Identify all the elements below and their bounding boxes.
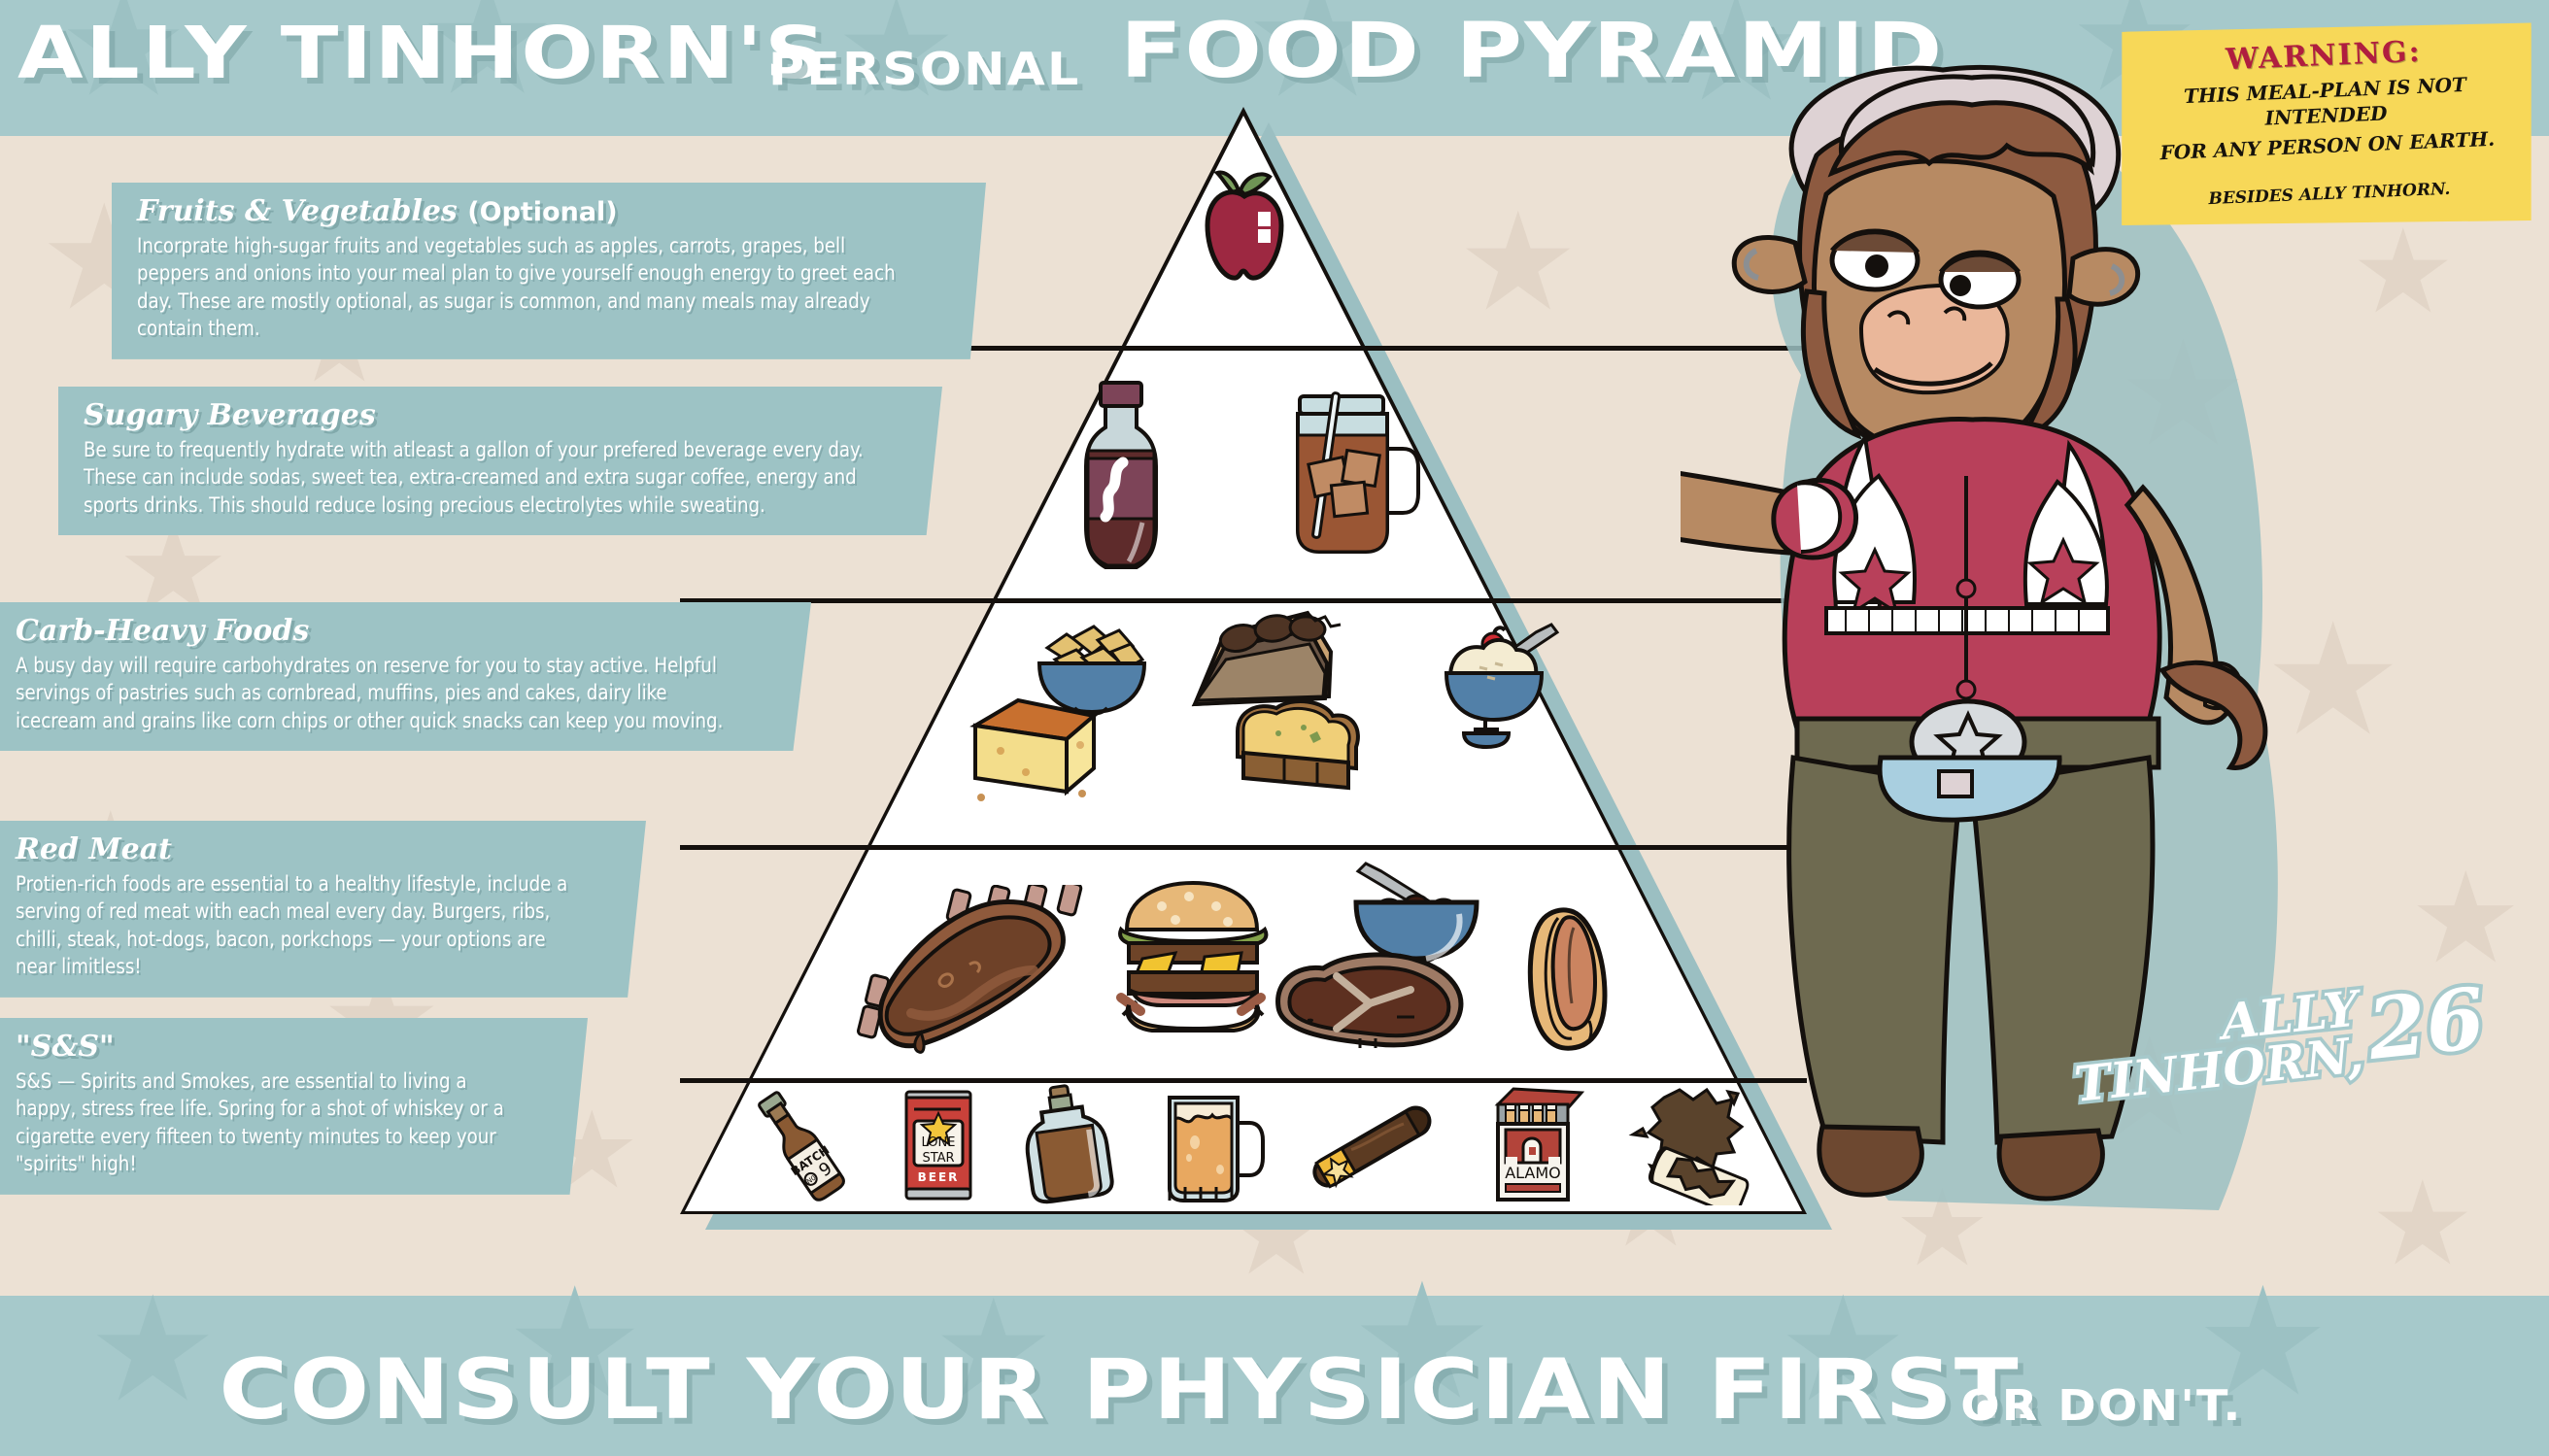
section-body: S&S — Spirits and Smokes, are essential … [16,1068,529,1179]
section-ribbon-carb-heavy-foods: Carb-Heavy Foods A busy day will require… [0,602,811,751]
title-part-owner: ALLY TINHORN'S [17,12,828,95]
warning-line-3: BESIDES ALLY TINHORN. [2142,177,2517,212]
double-cheeseburger-icon [1107,875,1277,1040]
pupil-right [1950,275,1971,296]
section-body: Protien-rich foods are essential to a he… [16,871,585,982]
buttered-toast-icon [1224,696,1379,803]
ice-cream-sundae-icon [1423,617,1569,758]
jeans-zipper [1939,771,1972,796]
cornbread-slice-icon [958,683,1108,809]
section-heading: Carb-Heavy Foods [16,616,786,647]
beer-brand-line1-label: LONE [922,1135,956,1150]
section-heading-text: Carb-Heavy Foods [16,614,309,648]
hot-dog-icon [1517,902,1624,1063]
section-heading-text: Red Meat [16,832,172,866]
boot-right [1999,1131,2102,1199]
section-heading-text: "S&S" [16,1030,115,1064]
flask-icon [1017,1084,1119,1210]
t-bone-steak-icon [1269,943,1478,1060]
warning-line-1: THIS MEAL-PLAN IS NOT INTENDED [2137,71,2514,136]
section-body: A busy day will require carbohydrates on… [16,653,739,736]
background-star-icon: ★ [2370,1166,2475,1282]
section-ribbon-spirits-and-smokes: "S&S" S&S — Spirits and Smokes, are esse… [0,1018,588,1195]
ear-right [2069,250,2138,305]
section-ribbon-red-meat: Red Meat Protien-rich foods are essentia… [0,821,646,998]
shirt-button [1957,580,1975,597]
section-heading: Fruits & Vegetables (Optional) [137,196,961,227]
poster-footer: CONSULT YOUR PHYSICIAN FIRST. OR DON'T. [0,1341,2549,1439]
iced-tea-mason-jar-icon [1261,375,1431,574]
section-heading: Red Meat [16,834,621,865]
whiskey-bottle-icon: BATCH N0 9 [735,1087,862,1208]
cigar-icon [1302,1087,1447,1208]
poster-title: ALLY TINHORN'S PERSONAL FOOD PYRAMID [17,8,1808,95]
beer-mug-icon [1152,1084,1269,1210]
section-body: Be sure to frequently hydrate with atlea… [84,437,867,521]
cigarette-pack-icon: ALAMO [1480,1079,1592,1215]
soda-bottle-icon [1057,375,1183,574]
beer-kind-label: BEER [918,1170,960,1184]
section-heading-text: Fruits & Vegetables [137,194,458,228]
section-ribbon-sugary-beverages: Sugary Beverages Be sure to frequently h… [58,387,942,535]
pyramid-tier-spirits-and-smokes: BATCH N0 9 LONE STAR BE [680,1083,1807,1211]
pupil-left [1865,254,1888,278]
section-heading: "S&S" [16,1032,562,1063]
footer-main-text: CONSULT YOUR PHYSICIAN FIRST. [219,1341,2044,1439]
beer-can-icon: LONE STAR BEER [895,1086,984,1209]
food-pyramid-poster: ★ ★ ★ ★ ★ ★ ★ ★ ★ ★ ★ ★ ★ ★ ★ ★ ★ ★ ★ ★ … [0,0,2549,1456]
signature-age: 26 [2363,969,2490,1079]
boot-left [1819,1127,1922,1195]
section-heading: Sugary Beverages [84,400,917,431]
background-star-icon: ★ [2409,855,2523,981]
pyramid-tier-red-meat [680,850,1807,1078]
section-body: Incorprate high-sugar fruits and vegetab… [137,233,911,344]
apple-icon [1190,161,1297,292]
section-heading-suffix: (Optional) [467,197,617,227]
shirt-button [1957,681,1975,698]
warning-card: WARNING: THIS MEAL-PLAN IS NOT INTENDED … [2114,15,2539,238]
section-heading-text: Sugary Beverages [84,398,376,432]
section-ribbon-fruits-vegetables: Fruits & Vegetables (Optional) Incorprat… [112,183,986,359]
title-part-personal: PERSONAL [768,43,1080,95]
beer-brand-line2-label: STAR [922,1151,954,1166]
pyramid-tier-carb-heavy-foods [680,603,1807,845]
cigarette-brand-label: ALAMO [1505,1164,1561,1182]
rack-of-ribs-icon [853,885,1105,1060]
footer-tag-text: OR DON'T. [1961,1381,2243,1431]
